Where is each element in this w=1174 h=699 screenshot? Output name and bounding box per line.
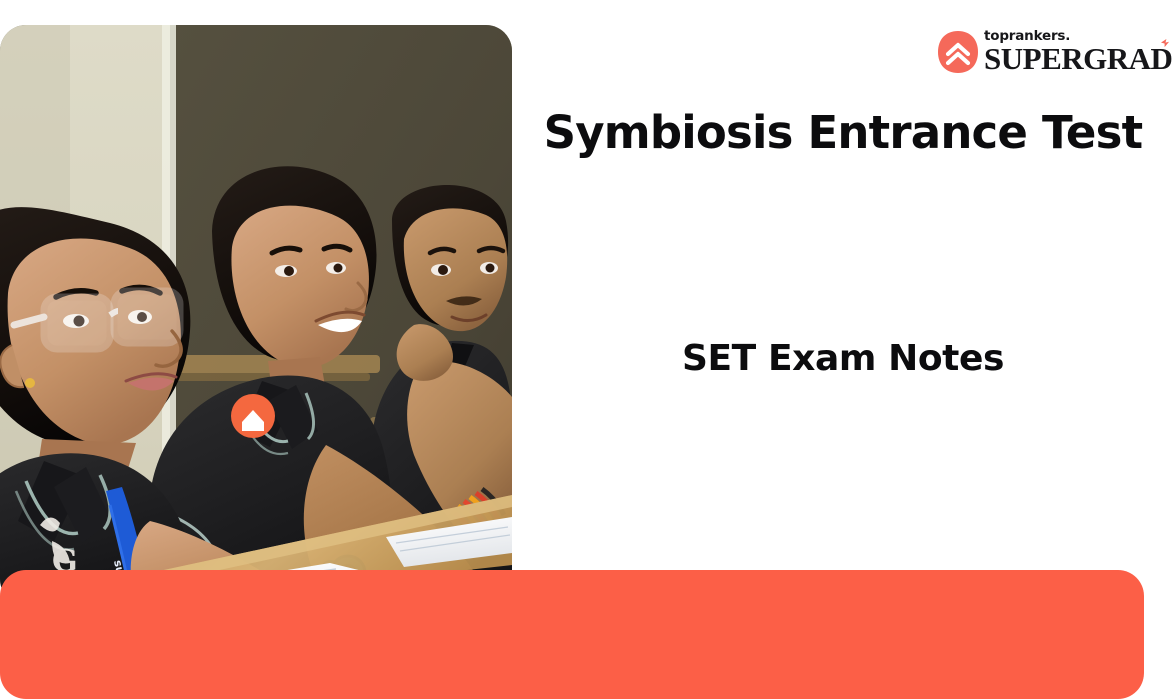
classroom-photo: G supergrads: [0, 25, 512, 605]
bottom-accent-bar: [0, 570, 1144, 699]
content-panel: Symbiosis Entrance Test SET Exam Notes: [512, 25, 1174, 570]
classroom-photo-illustration: G supergrads: [0, 25, 512, 605]
promo-card: G supergrads: [0, 0, 1174, 699]
page-title: Symbiosis Entrance Test: [512, 105, 1174, 160]
page-subtitle: SET Exam Notes: [512, 336, 1174, 382]
